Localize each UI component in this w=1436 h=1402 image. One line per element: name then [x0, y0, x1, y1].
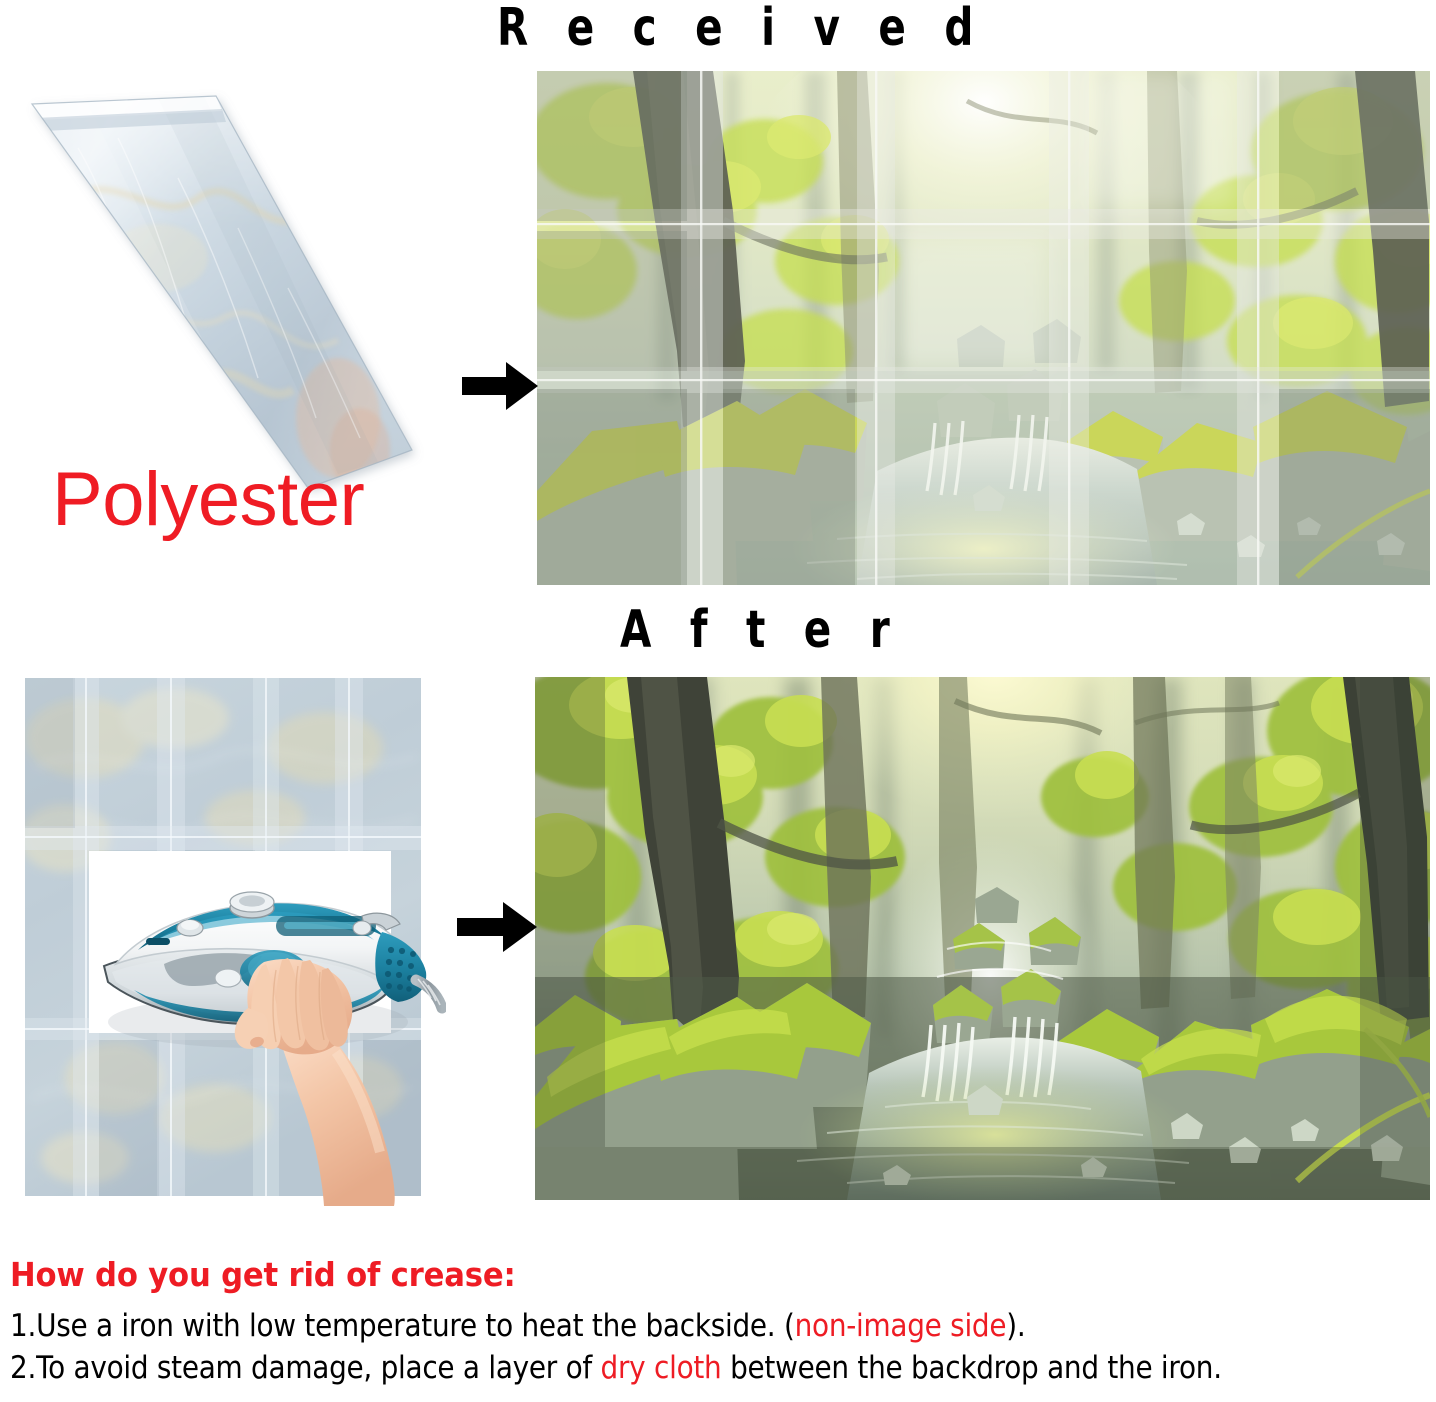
crease-question-heading: How do you get rid of crease:: [10, 1255, 1331, 1294]
received-heading: R e c e i v e d: [497, 2, 986, 54]
polyester-label: Polyester: [52, 462, 364, 538]
instruction-step-1: 1.Use a iron with low temperature to hea…: [10, 1308, 1288, 1344]
step-2-text-after: between the backdrop and the iron.: [721, 1350, 1221, 1386]
steam-iron-with-hand: [86, 846, 446, 1206]
after-forest-scene: [535, 677, 1430, 1200]
right-arrow-icon: [460, 358, 540, 414]
step-1-text-before: 1.Use a iron with low temperature to hea…: [10, 1308, 795, 1344]
instruction-step-2: 2.To avoid steam damage, place a layer o…: [10, 1350, 1288, 1386]
arrow-glyph: [460, 358, 540, 414]
step-2-text-before: 2.To avoid steam damage, place a layer o…: [10, 1350, 601, 1386]
arrow-glyph-2: [455, 898, 539, 956]
instructions-block: How do you get rid of crease: 1.Use a ir…: [10, 1255, 1430, 1392]
received-backdrop-photo: [537, 71, 1430, 585]
after-heading: A f t e r: [620, 604, 902, 656]
step-1-highlight: non-image side: [795, 1308, 1007, 1344]
folded-fabric-illustration: [8, 78, 438, 498]
step-1-text-after: ).: [1006, 1308, 1025, 1344]
after-backdrop-photo: [535, 677, 1430, 1200]
right-arrow-icon-2: [455, 898, 539, 956]
step-2-highlight: dry cloth: [601, 1350, 722, 1386]
received-forest-scene: [537, 71, 1430, 585]
folded-fabric-image: [8, 78, 438, 498]
iron-illustration: [86, 846, 446, 1206]
